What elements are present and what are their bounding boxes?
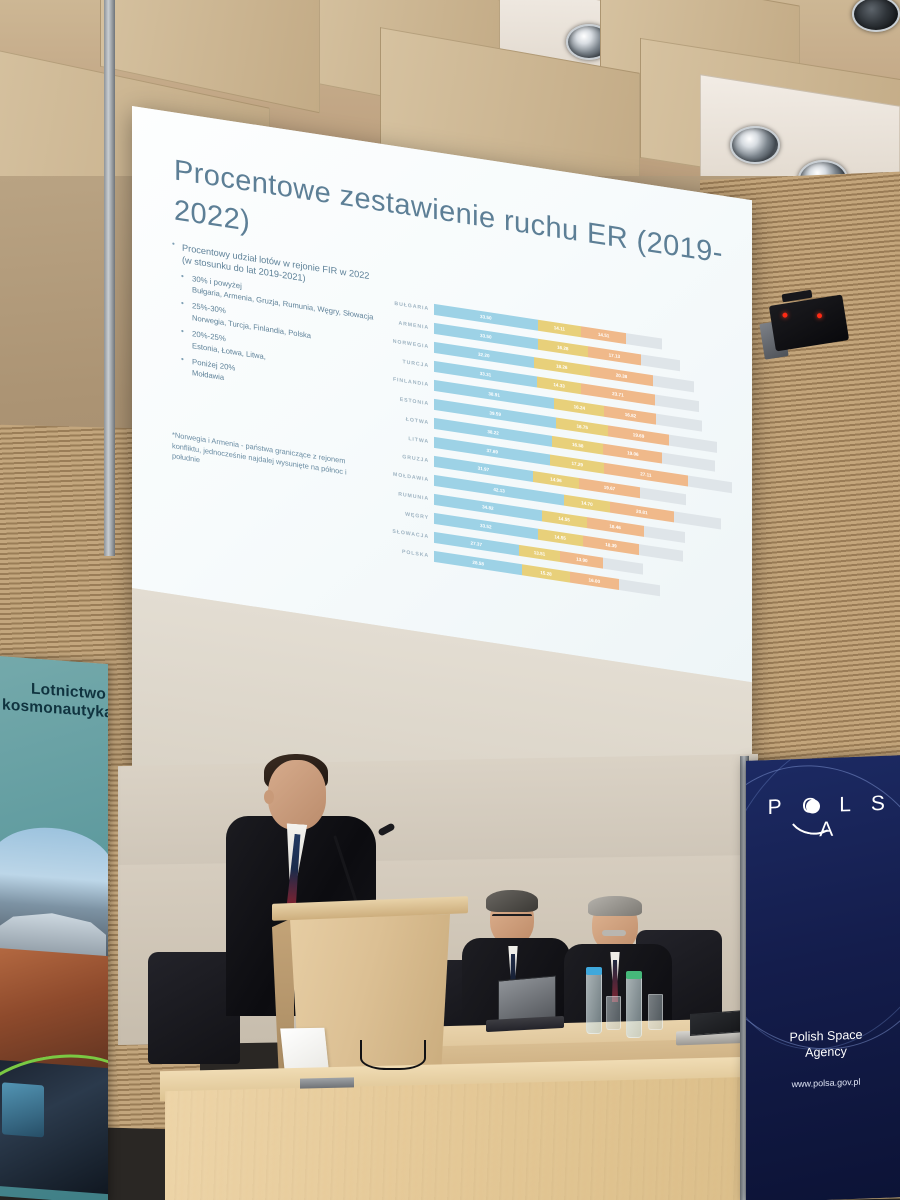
rollup-banner-aviation: Lotnictwo kosmonautyka: [0, 656, 108, 1200]
banner-photo-airport: [0, 823, 108, 962]
laptop-lid: [690, 1010, 746, 1036]
chart-category-label: TURCJA: [382, 356, 434, 370]
chart-category-label: WĘGRY: [382, 508, 434, 522]
camera-led-indicator: [817, 313, 823, 319]
banner-left-pole: [104, 0, 115, 556]
banner-left-title: Lotnictwo kosmonautyka: [2, 678, 106, 721]
polsa-url: www.polsa.gov.pl: [746, 1075, 900, 1091]
bottle-cap: [586, 967, 602, 975]
moustache-icon: [602, 930, 626, 936]
conference-room-photo: Procentowe zestawienie ruchu ER (2019-20…: [0, 0, 900, 1200]
chart-bar-segment-2021: 13.90: [560, 551, 603, 569]
chart-category-label: POLSKA: [382, 546, 434, 560]
chart-category-label: LITWA: [382, 432, 434, 446]
panelist-hair: [486, 890, 538, 912]
chart-category-label: MOŁDAWIA: [382, 470, 434, 484]
chart-bar-segment-2020: 15.28: [522, 564, 569, 582]
chart-bar-segment-2020: 13.51: [519, 545, 561, 562]
chart-bar-segment-2022: [603, 558, 643, 575]
chart-category-label: ARMENIA: [382, 318, 434, 332]
water-bottle: [586, 972, 602, 1034]
drinking-glass: [648, 994, 663, 1030]
chart-bar-segment-2020: 14.11: [538, 320, 582, 338]
polsa-subtitle: Polish Space Agency: [746, 1025, 900, 1063]
stacked-bar-chart: BUŁGARIA33.5014.1114.51ARMENIA33.5016.28…: [382, 292, 732, 675]
chart-category-label: SŁOWACJA: [382, 527, 434, 541]
chart-category-label: RUMUNIA: [382, 489, 434, 503]
panelist-hair: [588, 896, 642, 916]
chart-category-label: FINLANDIA: [382, 375, 434, 389]
glasses-icon: [492, 914, 532, 921]
speaker-head: [268, 760, 326, 830]
chart-bar-segment-2022: [653, 375, 694, 392]
chart-bar-segment-2022: [644, 526, 686, 543]
chart-category-label: GRUZJA: [382, 451, 434, 465]
chart-bar-segment-2022: [639, 544, 683, 562]
drinking-glass: [606, 996, 621, 1030]
cable: [360, 1040, 426, 1070]
camera-led-indicator: [782, 312, 788, 318]
desk-cable-port: [300, 1077, 354, 1088]
speaker-ear: [264, 790, 274, 804]
bottle-cap: [626, 971, 642, 979]
chart-category-label: ŁOTWA: [382, 413, 434, 427]
chart-bar-segment-2022: [626, 333, 662, 349]
chart-bar-segment-2022: [641, 354, 680, 371]
chart-bar-segment-2021: 16.00: [570, 572, 619, 591]
slide-footnote: *Norwegia i Armenia - państwa graniczące…: [172, 430, 372, 493]
chart-bar-segment-2022: [619, 579, 660, 596]
chart-category-label: NORWEGIA: [382, 337, 434, 351]
projection-screen: Procentowe zestawienie ruchu ER (2019-20…: [132, 106, 752, 806]
chart-category-label: BUŁGARIA: [382, 299, 434, 313]
ceiling-downlight-icon: [852, 0, 900, 32]
water-bottle: [626, 976, 642, 1038]
chart-category-label: ESTONIA: [382, 394, 434, 408]
slide-bullet-list: Procentowy udział lotów w rejonie FIR w …: [170, 240, 380, 408]
rollup-banner-polsa: P O L S A Polish Space Agency www.polsa.…: [746, 755, 900, 1200]
projected-slide: Procentowe zestawienie ruchu ER (2019-20…: [132, 106, 752, 682]
